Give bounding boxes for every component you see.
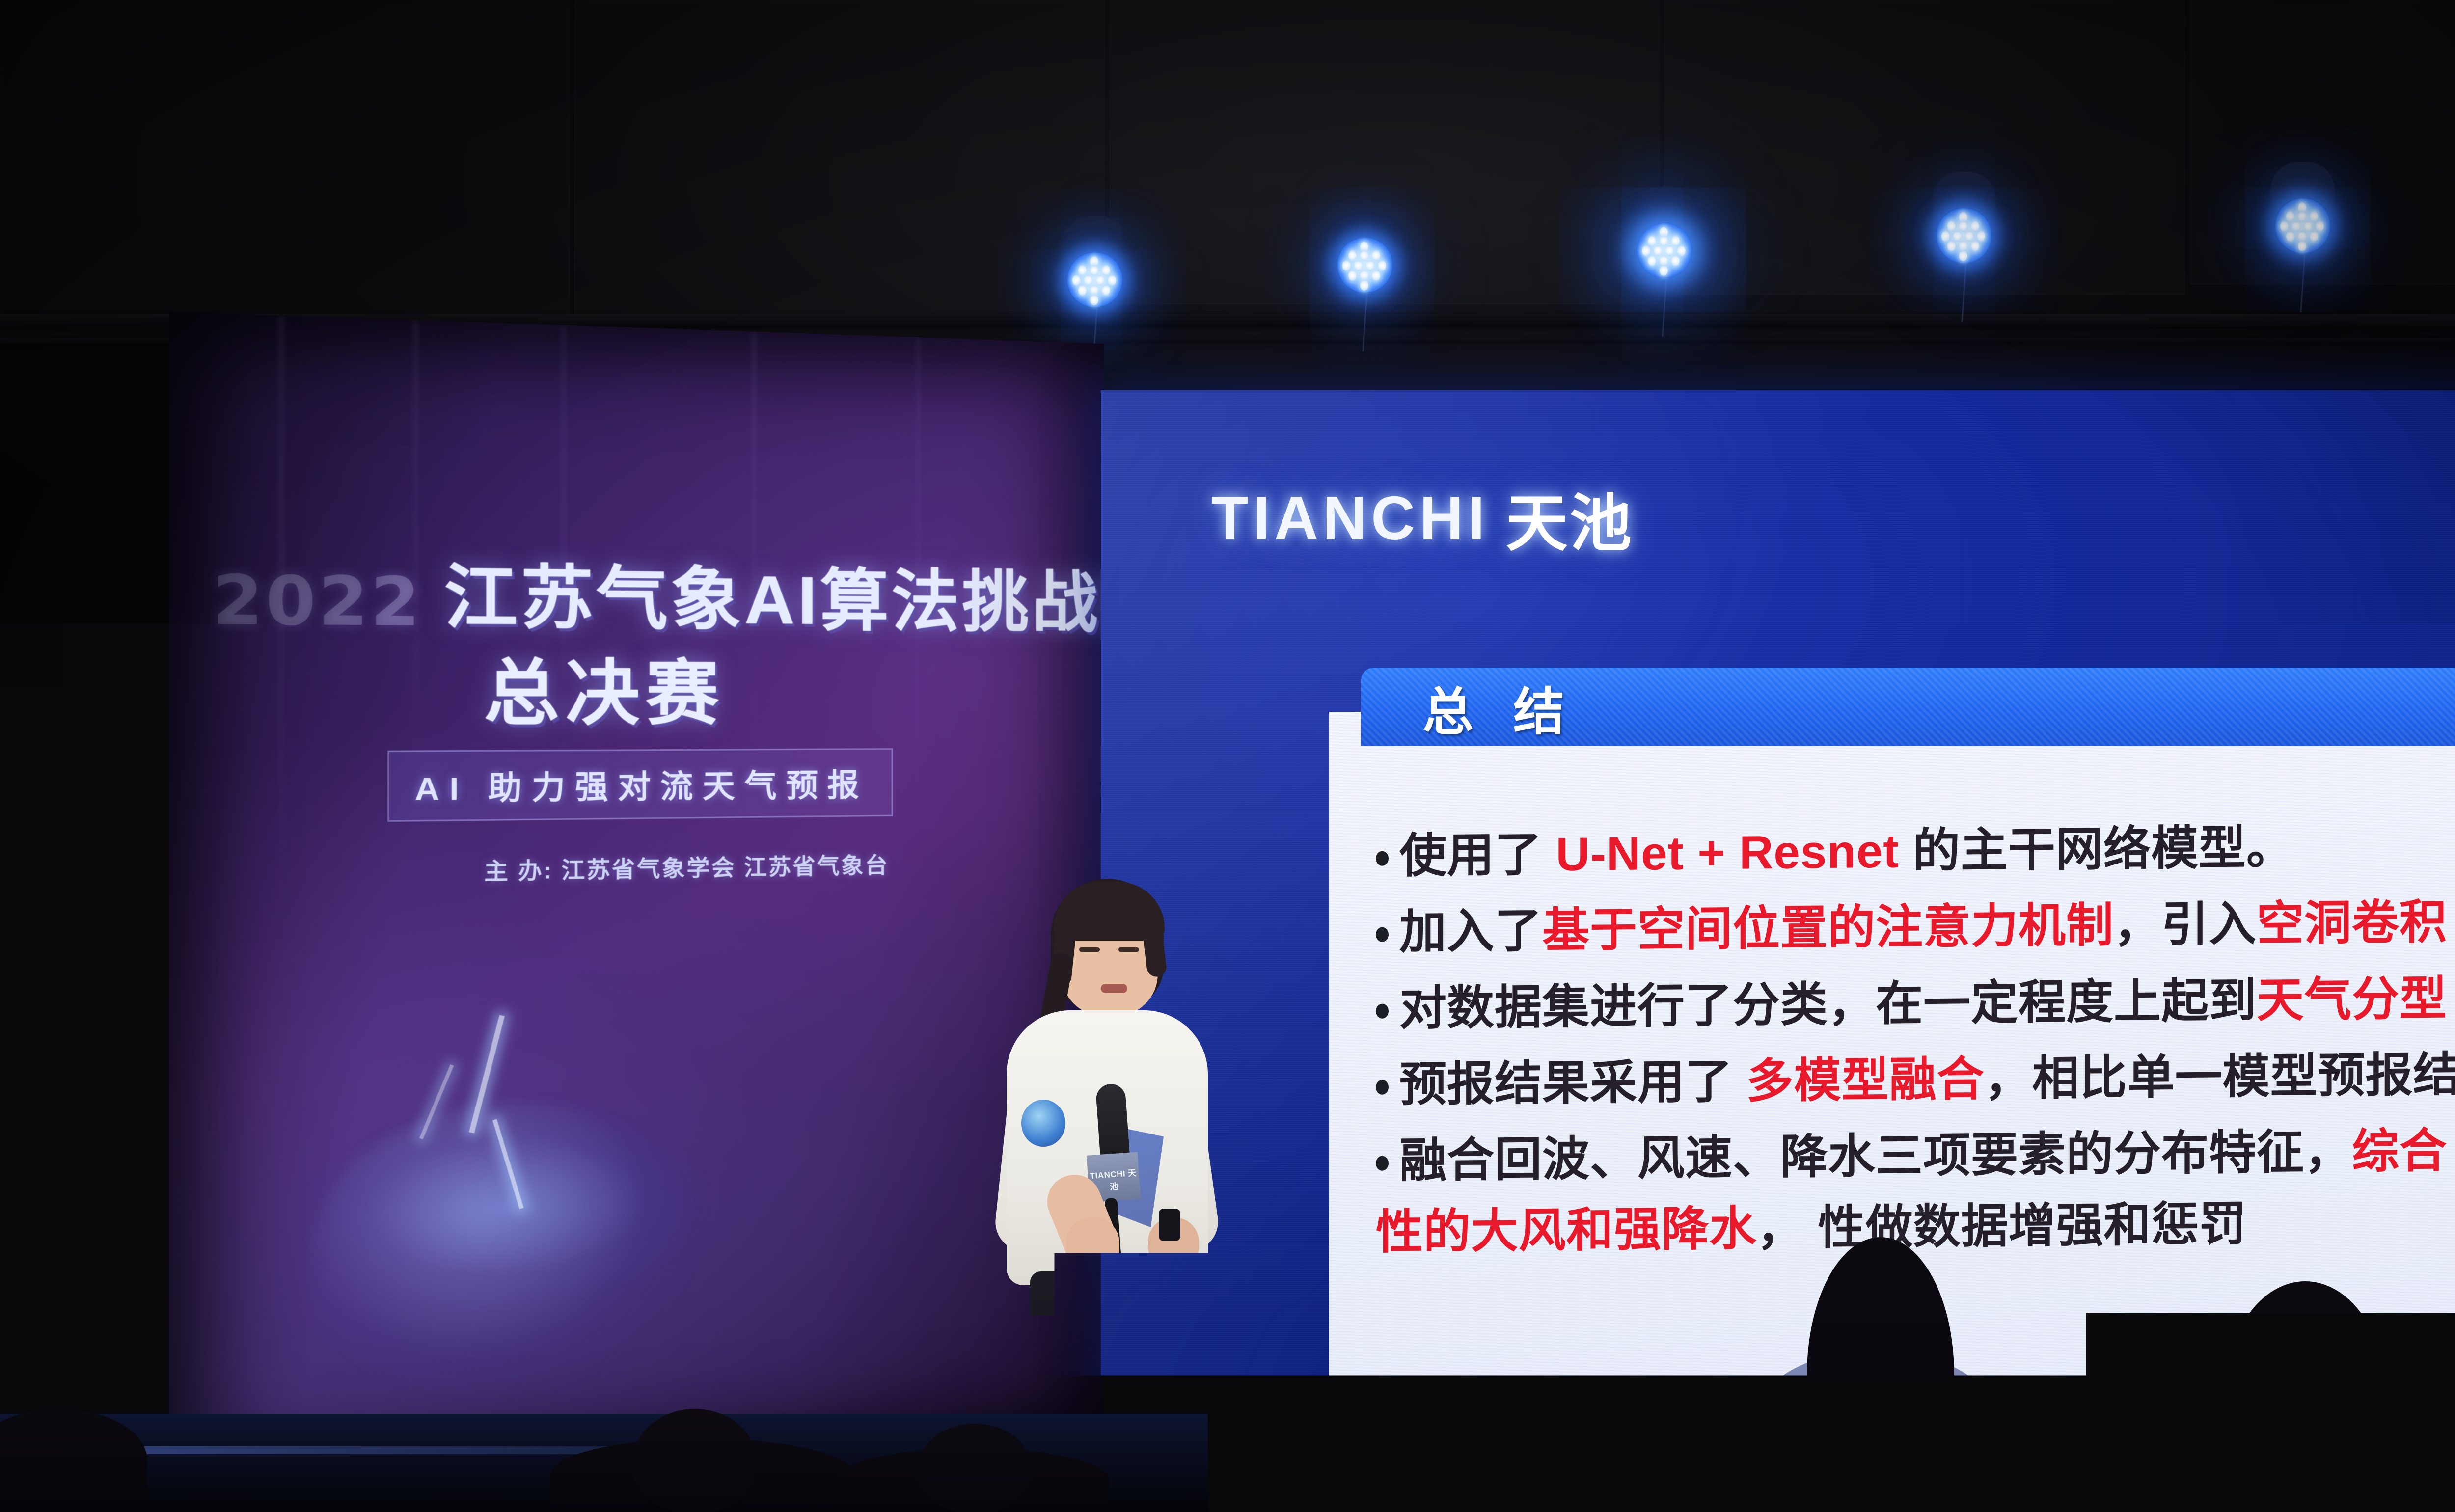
event-backdrop-banner: 2022 江苏气象AI算法挑战赛 总决赛 AI 助力强对流天气预报 主 办: 江… <box>169 312 1104 1505</box>
banner-organizer: 主 办: 江苏省气象学会 江苏省气象台 <box>484 847 889 886</box>
bullet-dot-icon <box>1376 927 1389 942</box>
bullet-text: 加入了基于空间位置的注意力机制，引入空洞卷积 <box>1399 894 2447 960</box>
light-lens <box>1337 238 1392 293</box>
banner-year: 2022 <box>212 561 422 642</box>
banner-subtitle-line: 总决赛 <box>484 635 725 739</box>
speaker-presenter: TIANCHI 天池 <box>992 879 1223 1512</box>
tianchi-wordmark-latin: TIANCHI <box>1211 484 1489 553</box>
banner-title-row: 2022 江苏气象AI算法挑战赛 <box>212 537 1072 645</box>
slide-section-header: 总 结 <box>1361 668 2455 746</box>
speaker-eye <box>1079 947 1100 952</box>
slide-section-title: 总 结 <box>1422 670 1577 744</box>
bullet-dot-icon <box>1376 1156 1389 1171</box>
bullet-dot-icon <box>1376 1080 1389 1094</box>
bullet-dot-icon <box>1376 1003 1389 1018</box>
speaker-eye <box>1118 947 1139 952</box>
bullet-dot-icon <box>1376 851 1389 866</box>
banner-tagline: AI 助力强对流天气预报 <box>415 760 868 810</box>
bullet-text: 融合回波、风速、降水三项要素的分布特征，综合 <box>1399 1123 2447 1189</box>
slide-bullet-item: 加入了基于空间位置的注意力机制，引入空洞卷积 <box>1376 892 2455 960</box>
stage-scene: 2022 江苏气象AI算法挑战赛 总决赛 AI 助力强对流天气预报 主 办: 江… <box>0 0 2455 1512</box>
light-lens <box>1067 252 1122 307</box>
slide-bullet-item: 融合回波、风速、降水三项要素的分布特征，综合 <box>1376 1121 2455 1189</box>
bullet-text: 对数据集进行了分类，在一定程度上起到天气分型 <box>1399 971 2447 1036</box>
audience-silhouette-head <box>1807 1237 1954 1512</box>
banner-lightning-graphic <box>289 1012 736 1375</box>
light-lens <box>1637 223 1692 278</box>
tianchi-wordmark-cjk: 天池 <box>1506 474 1634 563</box>
slide-bullet-continuation: 性的大风和强降水， 性做数据增强和惩罚 <box>1376 1192 2455 1261</box>
slide-bullet-item: 使用了 U-Net + Resnet 的主干网络模型。 <box>1376 816 2455 884</box>
audience-silhouette-head <box>918 1424 1031 1512</box>
wall-panel <box>1664 0 2185 295</box>
wall-panel <box>0 0 570 344</box>
light-lens <box>2275 198 2330 253</box>
slide-bullet-item: 对数据集进行了分类，在一定程度上起到天气分型 <box>1376 969 2455 1037</box>
banner-main-title: 江苏气象AI算法挑战赛 <box>444 540 1104 646</box>
audience-silhouette-head <box>2224 1281 2386 1512</box>
audience-silhouette-head <box>5 1389 103 1512</box>
tianchi-logo: TIANCHI 天池 <box>1211 474 1634 563</box>
presentation-clicker <box>1159 1209 1180 1241</box>
speaker-hand <box>1066 1217 1119 1275</box>
led-presentation-screen: TIANCHI 天池 总 结 使用了 U-Net + Resnet 的主干网络模… <box>1101 390 2455 1451</box>
audience-silhouette-head <box>633 1409 756 1512</box>
bullet-text: 预报结果采用了 多模型融合，相比单一模型预报结 <box>1399 1047 2455 1112</box>
banner-tagline-bar: AI 助力强对流天气预报 <box>387 748 893 822</box>
slide-bullet-list: 使用了 U-Net + Resnet 的主干网络模型。加入了基于空间位置的注意力… <box>1376 822 2455 1272</box>
slide-bullet-item: 预报结果采用了 多模型融合，相比单一模型预报结 <box>1376 1045 2455 1113</box>
wall-panel <box>574 0 1105 324</box>
bullet-text: 性的大风和强降水， 性做数据增强和惩罚 <box>1376 1196 2247 1260</box>
bullet-text: 使用了 U-Net + Resnet 的主干网络模型。 <box>1399 820 2294 884</box>
light-lens <box>1937 208 1991 263</box>
speaker-mouth <box>1101 984 1127 993</box>
speaker-sleeve-logo <box>1021 1100 1065 1147</box>
